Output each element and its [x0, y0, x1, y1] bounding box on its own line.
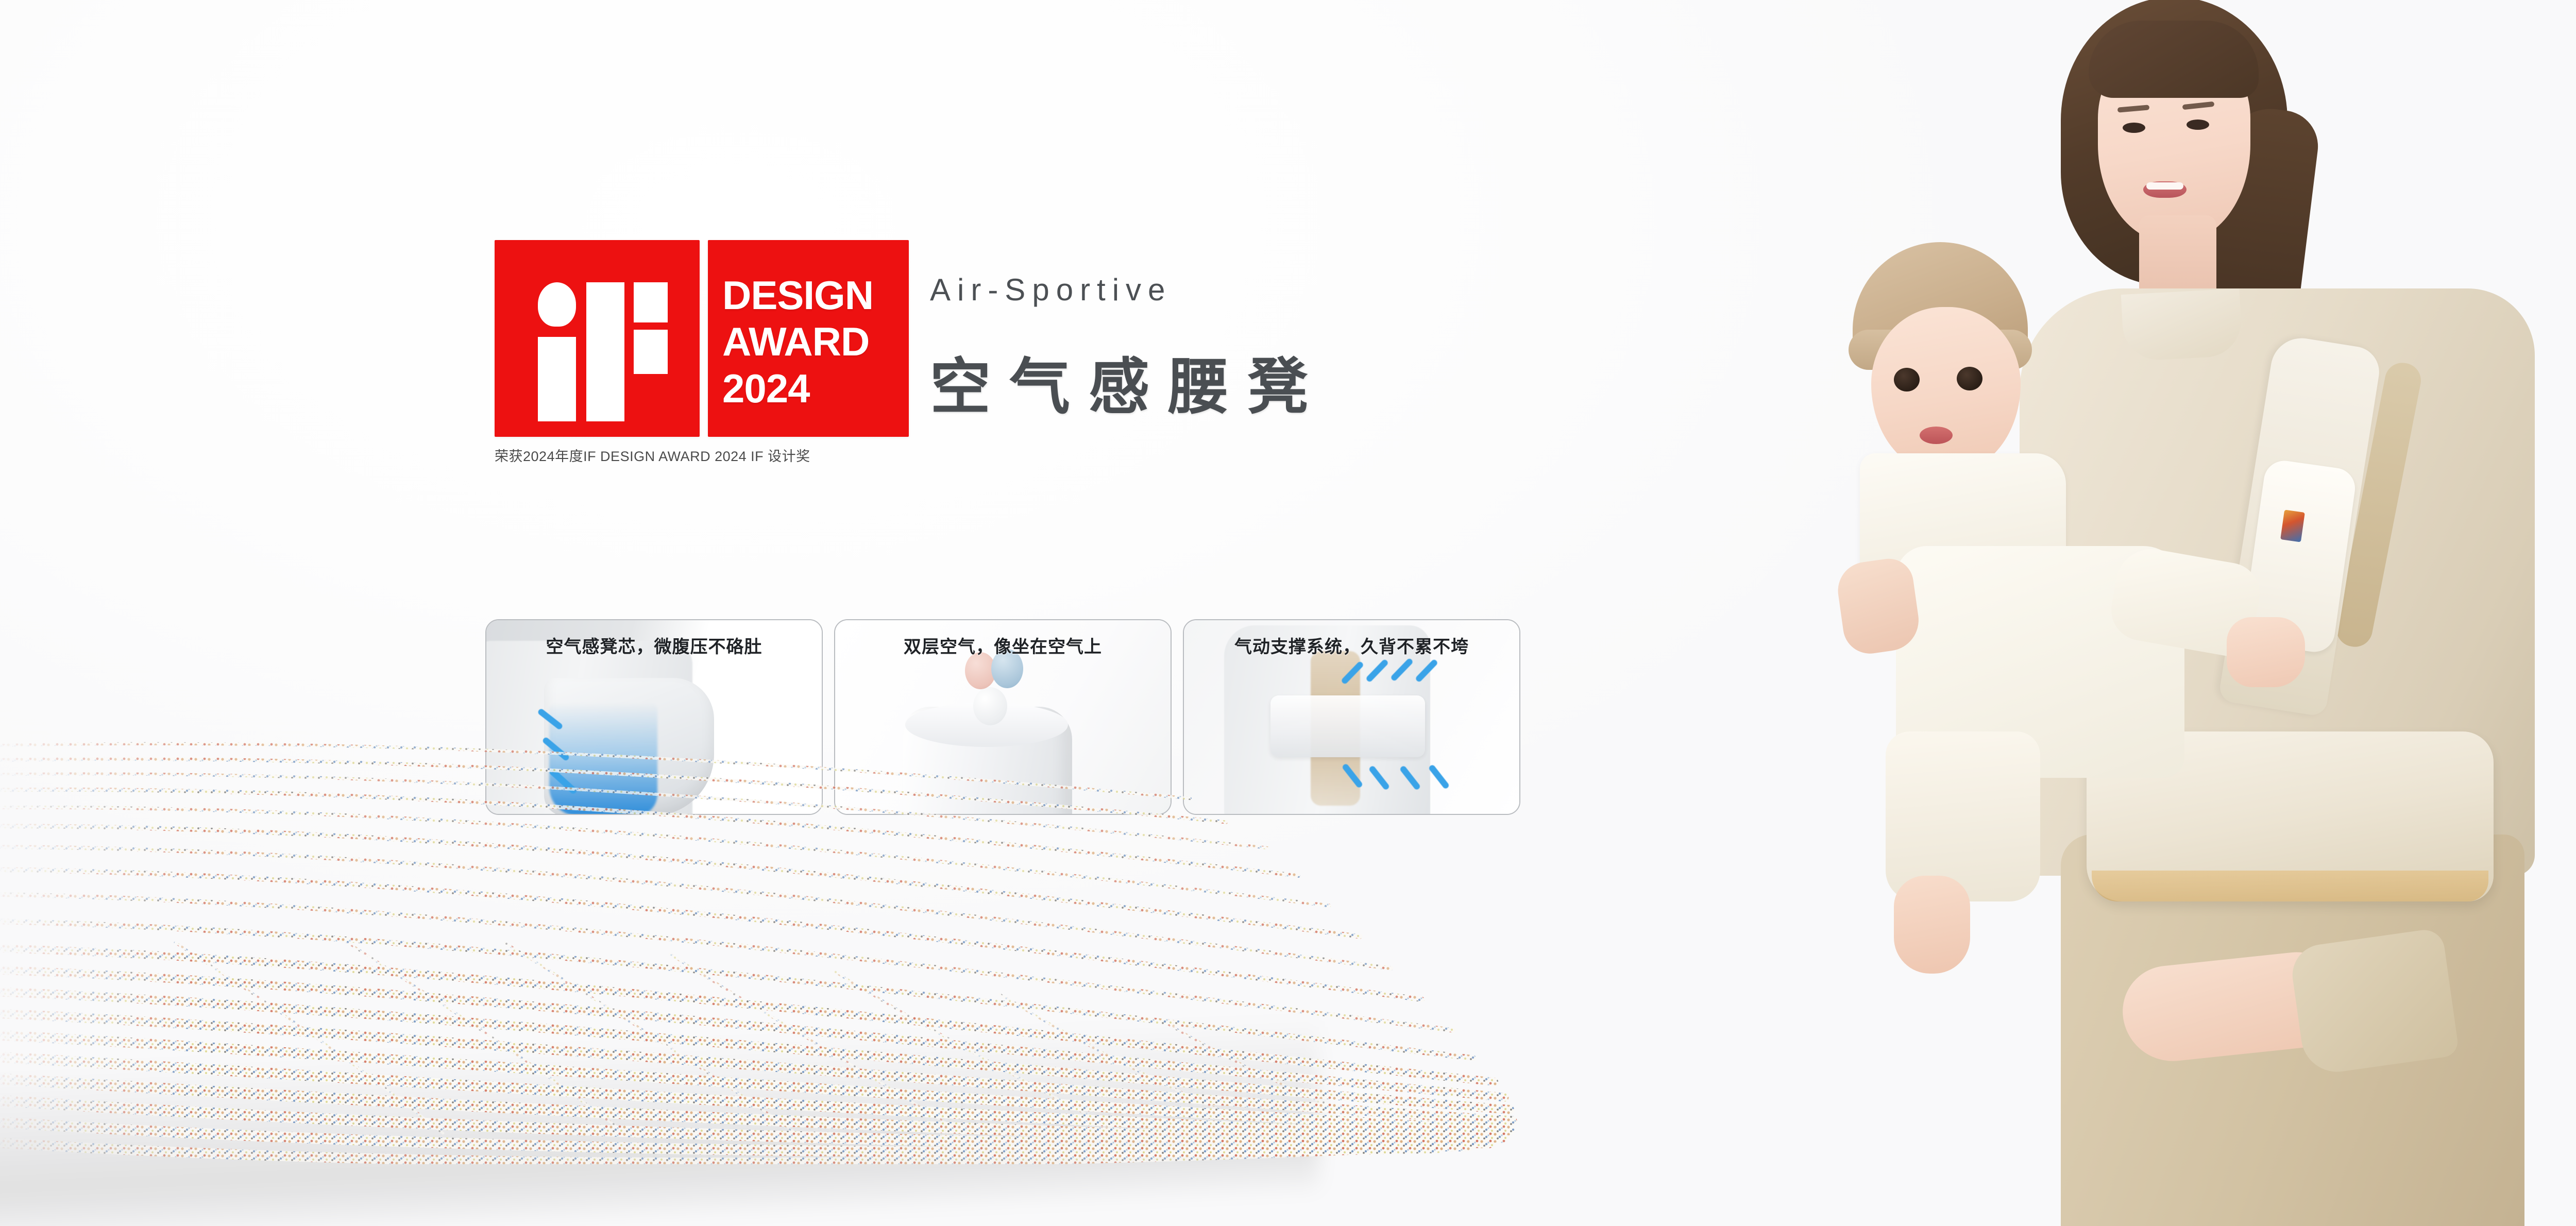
product-name-chinese: 空气感腰凳 [930, 337, 1327, 425]
mother-sleeve-cuff [2289, 927, 2460, 1076]
mother-eye-left [2123, 123, 2145, 133]
carrier-brand-tag-icon [2280, 509, 2305, 542]
baby-face [1871, 307, 2021, 472]
breathable-mesh-fabric-swatch [0, 721, 1731, 1164]
if-letter-f-mid-bar [634, 330, 668, 374]
baby-eye-left [1894, 368, 1920, 391]
headline-block: Air-Sportive 空气感腰凳 [930, 272, 1327, 425]
mother-collar [2121, 288, 2243, 362]
feature-card-caption: 气动支撑系统，久背不累不垮 [1184, 633, 1519, 658]
mother-carrying-baby-in-hip-seat-carrier [1731, 0, 2576, 1226]
mother-fringe [2089, 21, 2259, 98]
if-design-award-logo: DESIGN AWARD 2024 [495, 240, 922, 437]
feature-card-caption: 双层空气，像坐在空气上 [835, 633, 1171, 658]
baby-foot [1894, 876, 1970, 974]
white-bead-icon [973, 687, 1007, 725]
award-line-design: DESIGN [722, 272, 902, 318]
if-award-text-panel: DESIGN AWARD 2024 [708, 240, 909, 437]
product-hero-banner: DESIGN AWARD 2024 荣获2024年度IF DESIGN AWAR… [0, 0, 2576, 1226]
mother-hand-left [1834, 556, 1922, 657]
award-line-award: AWARD [722, 318, 902, 365]
award-line-year: 2024 [722, 365, 902, 412]
if-monogram-icon [495, 240, 700, 437]
if-letter-f-stem [586, 282, 624, 421]
baby-hand [2227, 617, 2305, 687]
mother-teeth [2146, 182, 2183, 190]
if-letter-f-top-bar [634, 282, 668, 322]
baby-eye-right [1957, 367, 1982, 390]
if-design-award-block: DESIGN AWARD 2024 荣获2024年度IF DESIGN AWAR… [495, 240, 922, 437]
baby-leg [1886, 731, 2040, 901]
mother-eye-right [2187, 120, 2209, 130]
if-letter-i-dot [538, 282, 576, 327]
if-letter-i-stem [538, 337, 576, 421]
feature-card-caption: 空气感凳芯，微腹压不硌肚 [486, 633, 822, 658]
carrier-hip-seat-trim [2092, 871, 2488, 901]
baby-mouth [1920, 427, 1953, 444]
product-name-english: Air-Sportive [930, 272, 1327, 308]
award-caption: 荣获2024年度IF DESIGN AWARD 2024 IF 设计奖 [495, 445, 810, 465]
